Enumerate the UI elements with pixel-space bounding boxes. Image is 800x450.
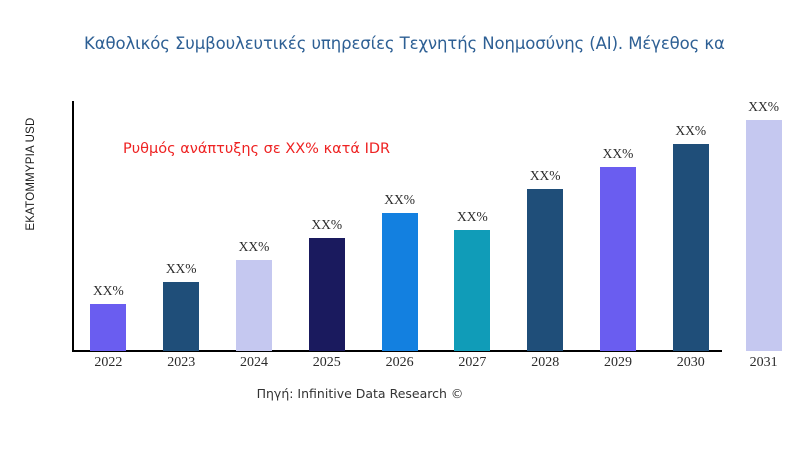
bar-group: XX% [145,100,218,351]
x-axis-tick-labels: 2022202320242025202620272028202920302031 [72,355,800,379]
bar-group: XX% [582,100,655,351]
y-axis-title: ΕΚΑΤΟΜΜΥΡΙΑ USD [25,79,37,269]
x-tick-2025: 2025 [290,355,363,371]
bar-value-label-2028: XX% [530,168,561,184]
chart-title: Καθολικός Συμβουλευτικές υπηρεσίες Τεχνη… [84,34,800,53]
x-tick-2027: 2027 [436,355,509,371]
bar-value-label-2024: XX% [239,239,270,255]
bar-value-label-2031: XX% [748,99,779,115]
bar-group: XX% [218,100,291,351]
bar-group: XX% [290,100,363,351]
x-tick-2030: 2030 [654,355,727,371]
bar-group: XX% [509,100,582,351]
bar-group: XX% [727,100,800,351]
bar-2025[interactable] [309,238,345,351]
bar-2027[interactable] [454,230,490,351]
x-tick-2022: 2022 [72,355,145,371]
bar-2029[interactable] [600,167,636,351]
bar-group: XX% [363,100,436,351]
plot-area: XX%XX%XX%XX%XX%XX%XX%XX%XX%XX% [72,100,800,351]
bar-value-label-2023: XX% [166,261,197,277]
bar-chart: Καθολικός Συμβουλευτικές υπηρεσίες Τεχνη… [0,0,800,450]
bar-2024[interactable] [236,260,272,351]
x-tick-2024: 2024 [218,355,291,371]
bar-value-label-2029: XX% [603,146,634,162]
bar-2026[interactable] [382,213,418,351]
bar-value-label-2026: XX% [384,192,415,208]
bar-2028[interactable] [527,189,563,351]
x-tick-2029: 2029 [582,355,655,371]
bar-group: XX% [72,100,145,351]
x-tick-2026: 2026 [363,355,436,371]
bar-2031[interactable] [746,120,782,351]
growth-rate-annotation: Ρυθμός ανάπτυξης σε XX% κατά IDR [123,141,390,157]
bar-group: XX% [436,100,509,351]
bar-value-label-2025: XX% [311,217,342,233]
bar-2022[interactable] [90,304,126,351]
bar-value-label-2022: XX% [93,283,124,299]
bar-2023[interactable] [163,282,199,351]
x-tick-2028: 2028 [509,355,582,371]
source-caption: Πηγή: Infinitive Data Research © [0,386,720,401]
bar-value-label-2027: XX% [457,209,488,225]
bar-group: XX% [654,100,727,351]
bar-value-label-2030: XX% [675,123,706,139]
bar-2030[interactable] [673,144,709,351]
x-tick-2031: 2031 [727,355,800,371]
x-tick-2023: 2023 [145,355,218,371]
